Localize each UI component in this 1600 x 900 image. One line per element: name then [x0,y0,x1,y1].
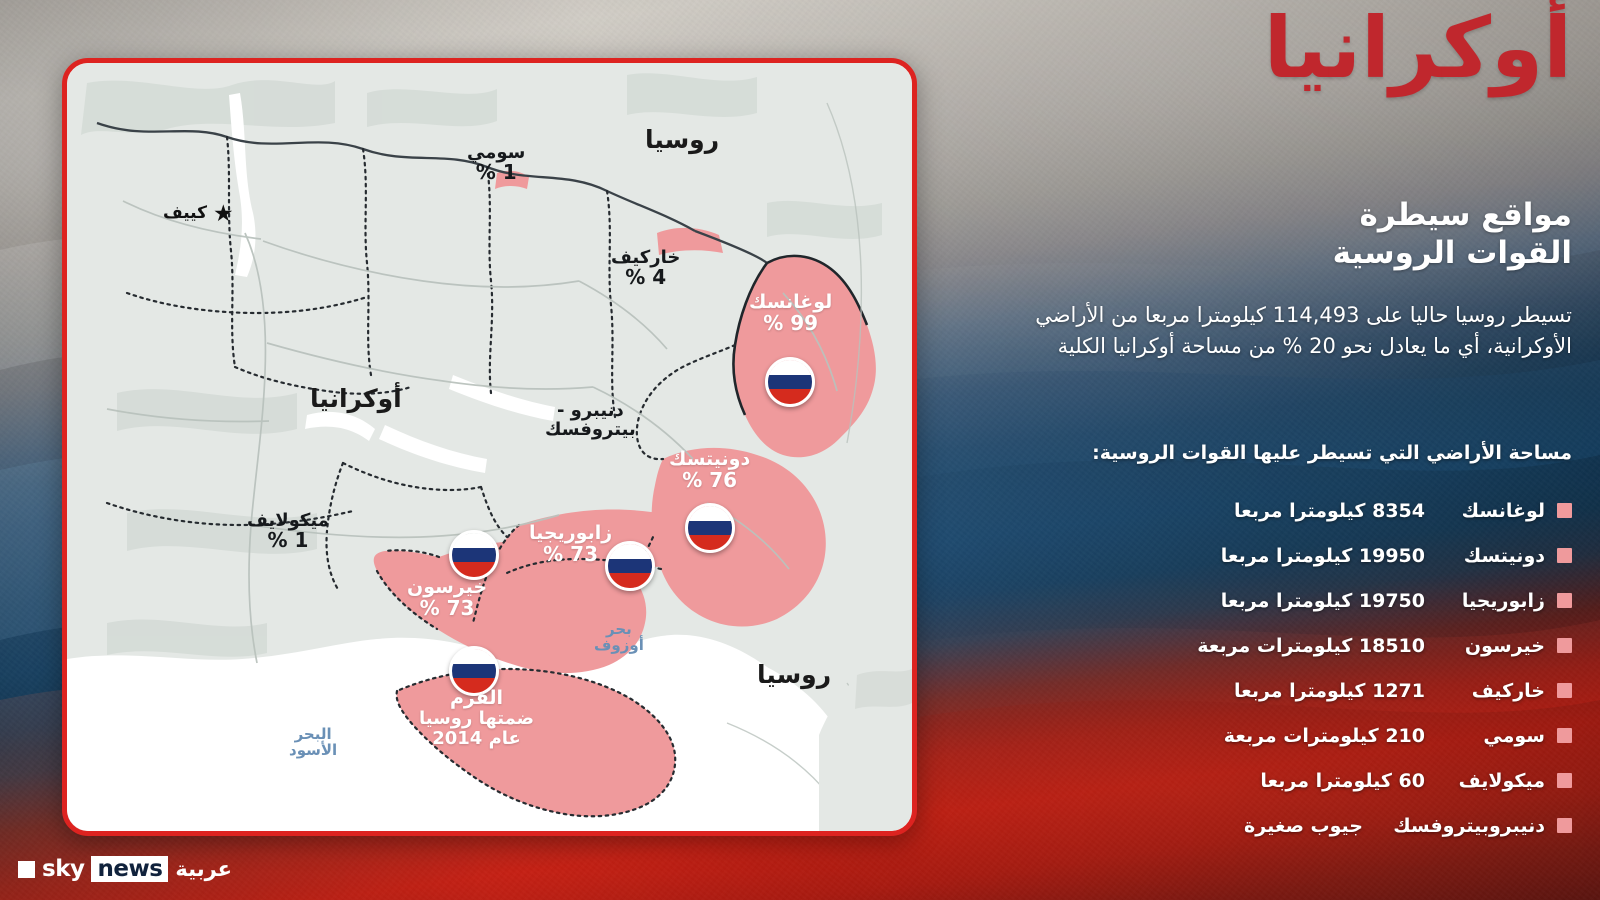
legend-swatch-icon [1557,638,1572,653]
subtitle-line-2: القوات الروسية [972,234,1572,272]
legend-swatch-icon [1557,728,1572,743]
logo-square-icon [18,861,35,878]
legend-region-name: لوغانسك [1437,500,1545,522]
legend-row: ميكولايف 60 كيلومترا مربعا [952,758,1572,803]
legend-swatch-icon [1557,818,1572,833]
legend-region-area: 1271 كيلومترا مربعا [1234,680,1425,702]
legend-region-area: 210 كيلومترات مربعة [1224,725,1425,747]
russian-flag-badge-zaporizhzhia [605,541,655,591]
legend-row: دنيبروبيتروفسك جيوب صغيرة [952,803,1572,848]
subtitle: مواقع سيطرة القوات الروسية [972,196,1572,273]
logo-arabic-text: عربية [175,857,232,881]
legend-list: لوغانسك 8354 كيلومترا مربعا دونيتسك 1995… [952,488,1572,848]
logo-news-text: news [91,856,168,882]
legend-row: خاركيف 1271 كيلومترا مربعا [952,668,1572,713]
infographic-canvas: روسيا أوكرانيا روسيا ★ كييف سومي 1 % خار… [0,0,1600,900]
subtitle-line-1: مواقع سيطرة [972,196,1572,234]
legend-region-name: دنيبروبيتروفسك [1375,815,1545,837]
legend-row: زابوريجيا 19750 كيلومترا مربعا [952,578,1572,623]
legend-row: لوغانسك 8354 كيلومترا مربعا [952,488,1572,533]
legend-swatch-icon [1557,503,1572,518]
legend-swatch-icon [1557,773,1572,788]
legend-region-name: خاركيف [1437,680,1545,702]
legend-swatch-icon [1557,683,1572,698]
legend-region-area: 8354 كيلومترا مربعا [1234,500,1425,522]
legend-region-name: دونيتسك [1437,545,1545,567]
legend-region-name: خيرسون [1437,635,1545,657]
map-graphic [67,63,912,831]
russian-flag-badge-kherson [449,530,499,580]
legend-region-name: زابوريجيا [1437,590,1545,612]
capital-star-icon: ★ [213,203,234,226]
page-title: أوكرانيا [1264,6,1572,92]
legend-region-area: 19950 كيلومترا مربعا [1221,545,1425,567]
legend-region-area: 60 كيلومترا مربعا [1260,770,1425,792]
russian-flag-badge-donetsk [685,503,735,553]
legend-row: خيرسون 18510 كيلومترات مربعة [952,623,1572,668]
legend-region-area: جيوب صغيرة [1244,815,1363,837]
logo-sky-text: sky [42,856,84,882]
right-panel: أوكرانيا مواقع سيطرة القوات الروسية تسيط… [930,0,1600,900]
legend-region-area: 18510 كيلومترات مربعة [1197,635,1425,657]
legend-row: سومي 210 كيلومترات مربعة [952,713,1572,758]
russian-flag-badge-luhansk [765,357,815,407]
map-card[interactable]: روسيا أوكرانيا روسيا ★ كييف سومي 1 % خار… [62,58,917,836]
legend-row: دونيتسك 19950 كيلومترا مربعا [952,533,1572,578]
legend-region-name: سومي [1437,725,1545,747]
russian-flag-badge-crimea [449,646,499,696]
legend-title: مساحة الأراضي التي تسيطر عليها القوات ال… [952,442,1572,464]
legend-region-area: 19750 كيلومترا مربعا [1221,590,1425,612]
legend-swatch-icon [1557,593,1572,608]
legend-swatch-icon [1557,548,1572,563]
intro-paragraph: تسيطر روسيا حاليا على 114,493 كيلومترا م… [962,300,1572,362]
legend-region-name: ميكولايف [1437,770,1545,792]
sky-news-arabia-logo[interactable]: sky news عربية [18,856,232,882]
